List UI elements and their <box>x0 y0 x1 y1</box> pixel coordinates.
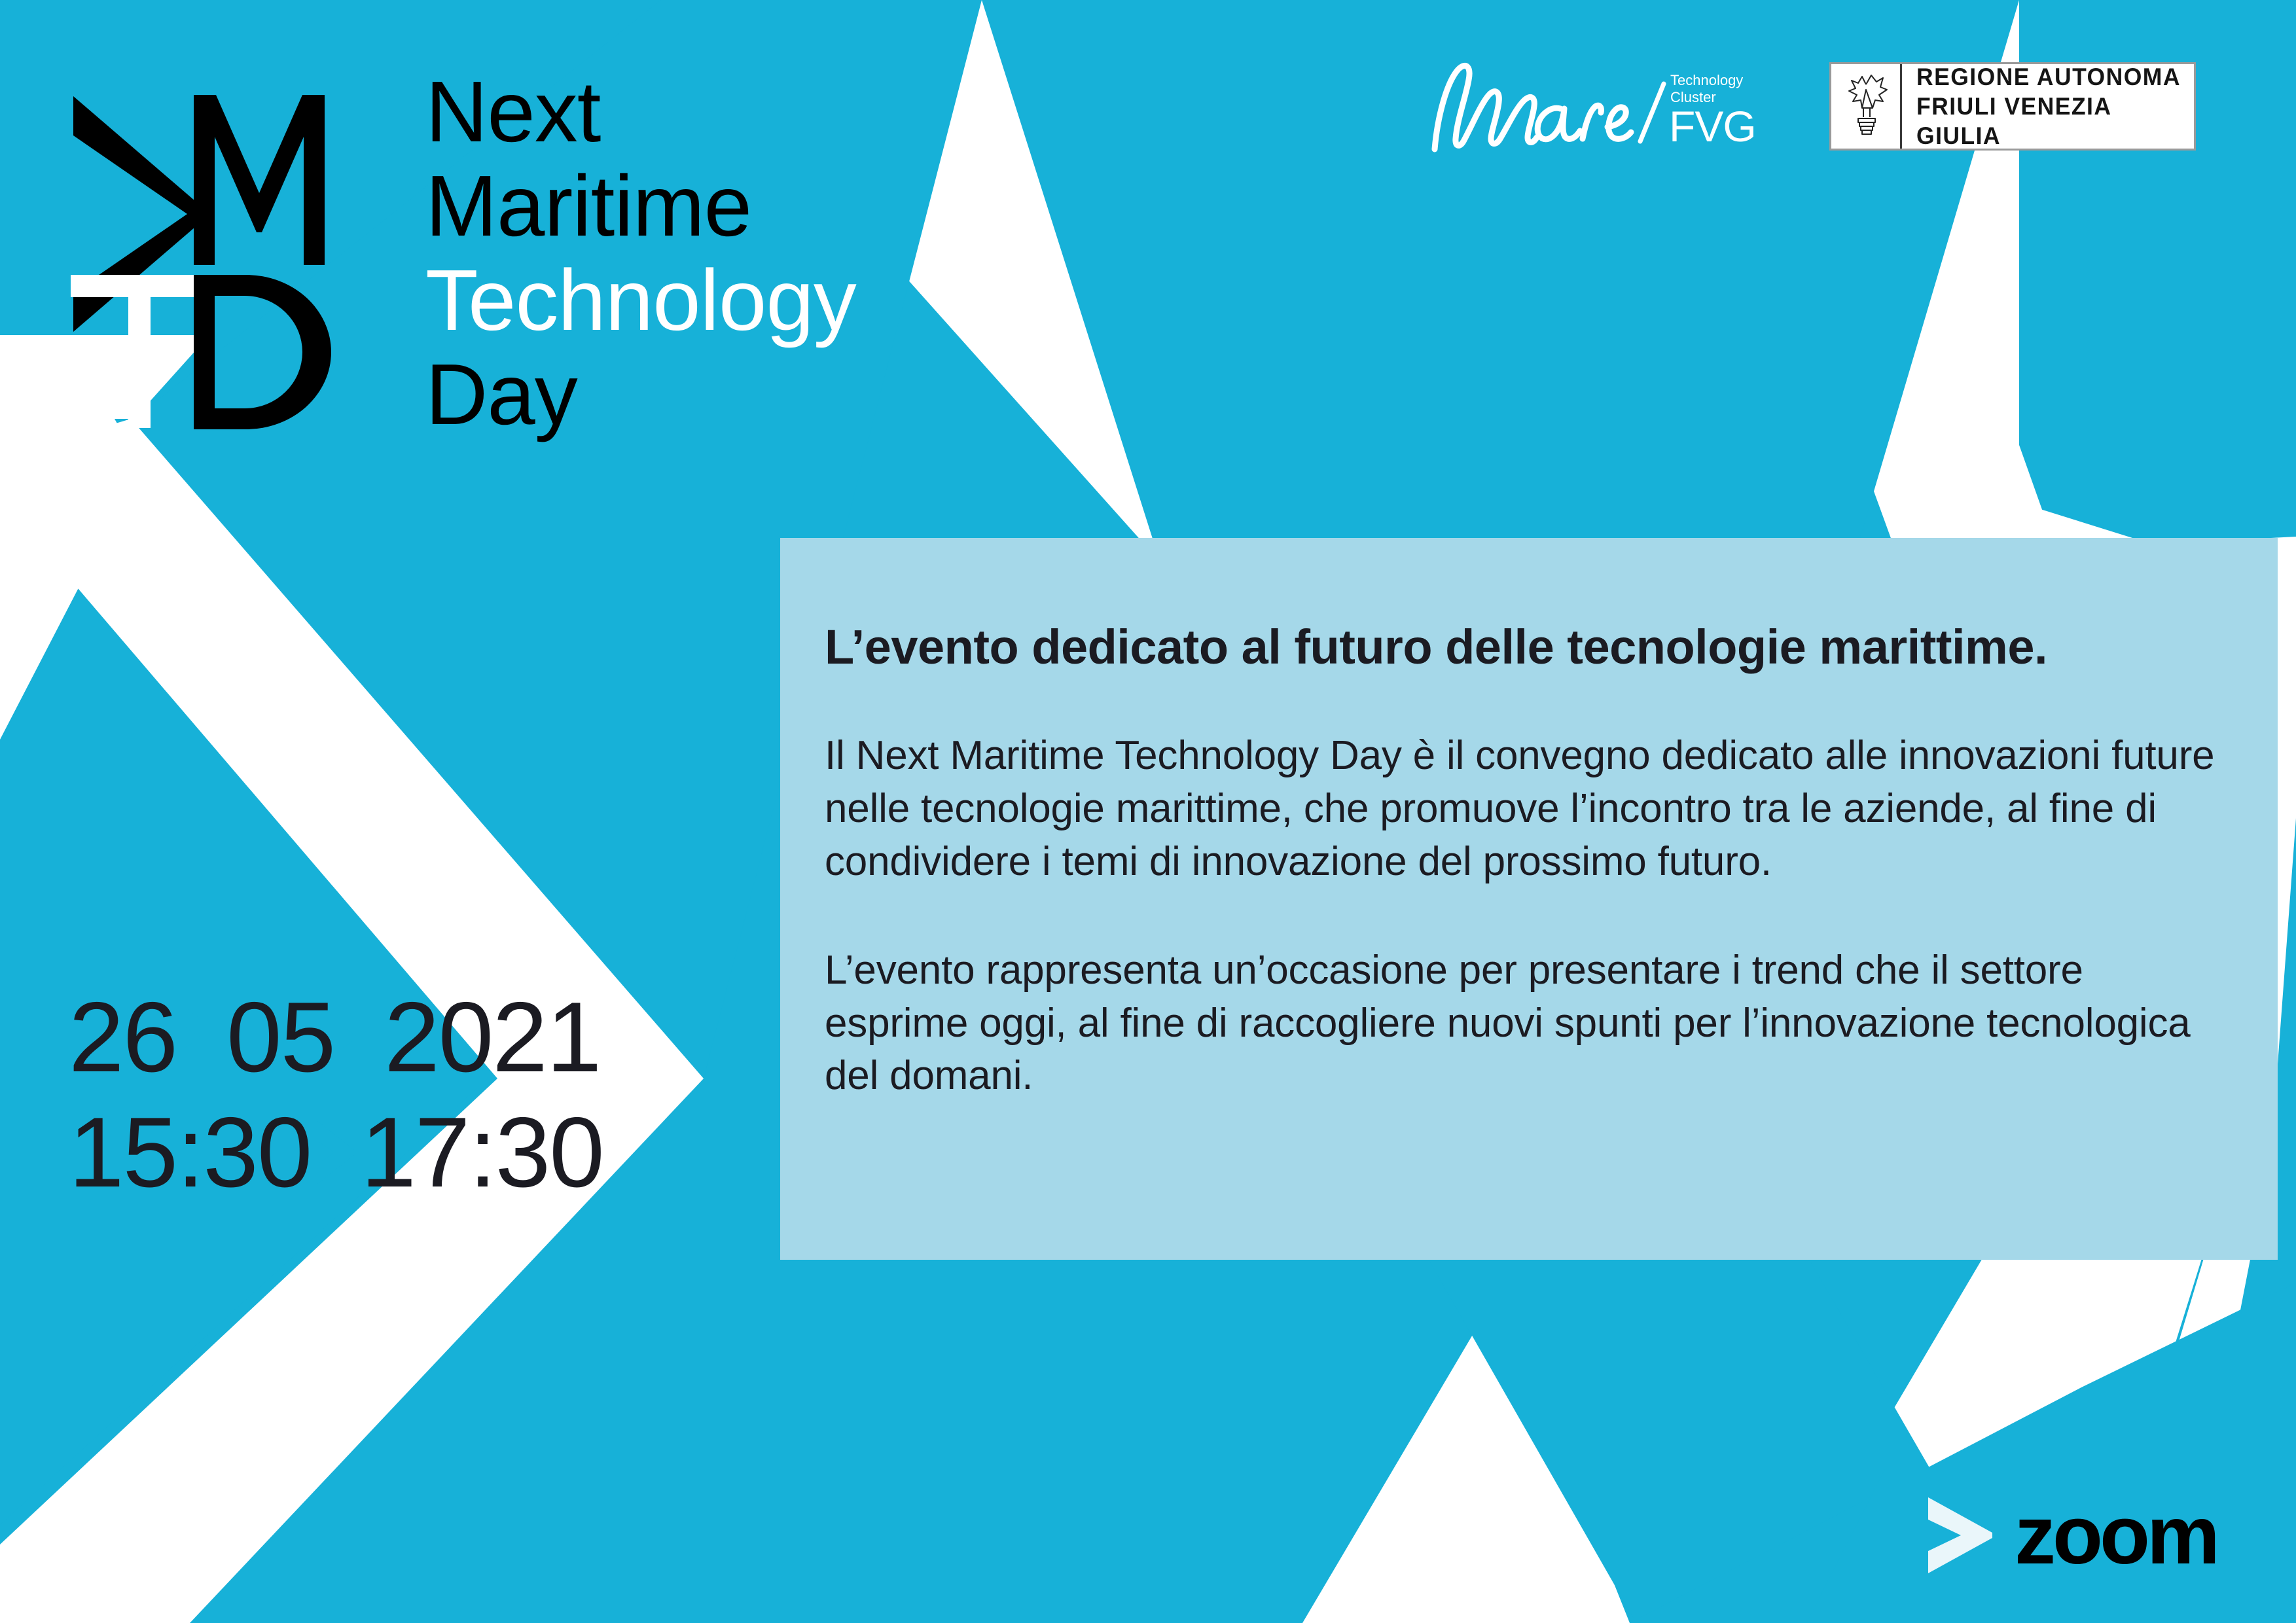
mare-script-a <box>1537 108 1580 139</box>
eagle-icon <box>1842 70 1890 143</box>
panel-paragraph-2: L’evento rappresenta un’occasione per pr… <box>825 944 2237 1103</box>
eagle-body <box>1862 90 1873 108</box>
zoom-platform-logo: zoom <box>1924 1492 2219 1578</box>
event-time-end: 17:30 <box>361 1095 603 1210</box>
description-panel: L’evento dedicato al futuro delle tecnol… <box>780 538 2278 1260</box>
regione-wordmark: REGIONE AUTONOMA FRIULI VENEZIA GIULIA <box>1902 64 2194 149</box>
event-year: 2021 <box>384 980 600 1095</box>
regione-crest <box>1831 64 1902 149</box>
title-line-day: Day <box>425 351 856 438</box>
mare-fvg-suffix: FVG <box>1669 102 1756 151</box>
mare-script-e <box>1607 107 1631 139</box>
chevron-right-icon <box>181 1003 223 1071</box>
regione-fvg-logo: REGIONE AUTONOMA FRIULI VENEZIA GIULIA <box>1829 62 2196 151</box>
mare-slash-icon <box>1640 84 1664 141</box>
zoom-chevron-icon <box>1924 1493 1996 1577</box>
eagle-right-wing <box>1866 75 1887 108</box>
mare-script-r <box>1583 105 1601 139</box>
event-time-start: 15:30 <box>69 1095 311 1210</box>
event-date-row: 26 05 2021 <box>69 980 603 1095</box>
title-line-maritime: Maritime <box>425 163 856 249</box>
eagle-legs <box>1863 108 1870 117</box>
nmtd-monogram-icon <box>65 62 406 435</box>
title-line-technology: Technology <box>425 257 856 344</box>
zoom-wordmark: zoom <box>2015 1494 2217 1577</box>
mare-sub-technology: Technology <box>1670 72 1743 88</box>
event-time-row: 15:30 17:30 <box>69 1095 603 1210</box>
nmtd-monogram-logo <box>65 62 406 435</box>
event-day: 26 <box>69 980 177 1095</box>
regione-line-1: REGIONE AUTONOMA <box>1916 62 2183 92</box>
eagle-pedestal <box>1858 118 1875 134</box>
monogram-letter-m <box>194 95 325 265</box>
panel-headline: L’evento dedicato al futuro delle tecnol… <box>825 620 2237 673</box>
event-datetime: 26 05 2021 15:30 17:30 <box>69 980 603 1211</box>
mare-fvg-logo: Technology Cluster FVG <box>1420 58 1800 156</box>
mare-fvg-logo-icon: Technology Cluster FVG <box>1420 58 1800 156</box>
chevron-right-icon <box>315 1118 357 1186</box>
monogram-letter-d <box>194 275 331 429</box>
panel-paragraph-1: Il Next Maritime Technology Day è il con… <box>825 730 2237 888</box>
title-line-next: Next <box>425 69 856 155</box>
mare-script-m <box>1435 65 1537 149</box>
chevron-right-icon <box>338 1003 380 1071</box>
event-poster: Next Maritime Technology Day Technology … <box>0 0 2296 1623</box>
event-month: 05 <box>226 980 334 1095</box>
event-title-block: Next Maritime Technology Day <box>425 69 856 446</box>
regione-line-2: FRIULI VENEZIA GIULIA <box>1916 92 2183 151</box>
